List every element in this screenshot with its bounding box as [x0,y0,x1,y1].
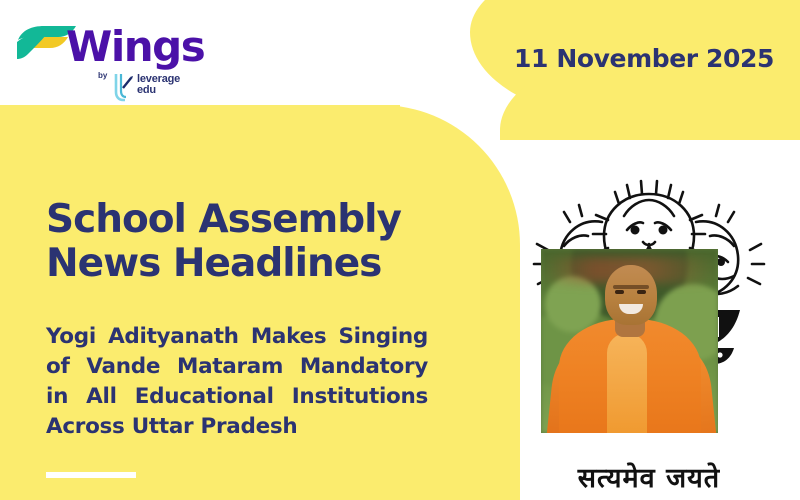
headline-subtitle: Yogi Adityanath Makes Singing of Vande M… [46,322,428,442]
poster-canvas: सत्यमेव जयते Wings by leverage [0,0,800,500]
photo-head [605,265,657,325]
photo-scarf [607,333,647,433]
photo-brow [613,285,649,289]
yogi-adityanath-photo [541,249,718,433]
wings-logo[interactable]: Wings by leverage edu [14,14,204,99]
leverage-edu-icon [113,72,135,102]
logo-by-label: by [98,71,107,80]
leverage-edu-label: leverage edu [137,74,180,96]
photo-eye-right [637,290,646,294]
page-title: School Assembly News Headlines [46,198,446,286]
emblem-motto: सत्यमेव जयते [524,458,774,495]
page-title-line1: School Assembly [46,197,401,242]
accent-underline [46,472,136,478]
page-title-line2: News Headlines [46,242,446,286]
photo-eye-left [615,290,624,294]
leverage-edu-line2: edu [137,84,156,96]
logo-wordmark: Wings [66,22,204,71]
date-label: 11 November 2025 [514,44,774,73]
